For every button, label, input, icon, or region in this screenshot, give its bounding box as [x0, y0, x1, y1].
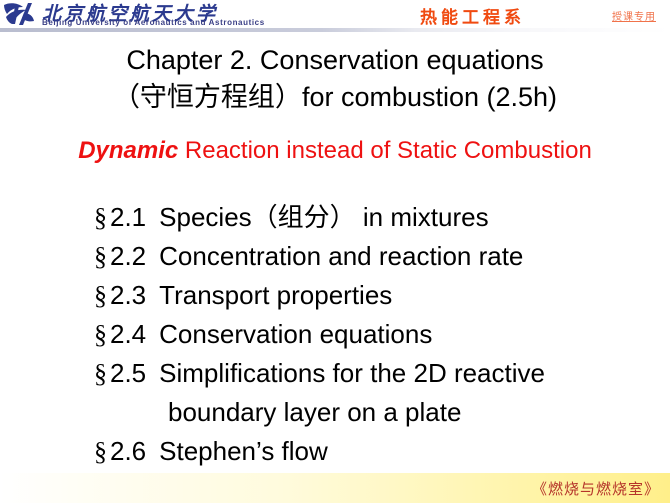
agenda-item-number: 2.5	[110, 358, 159, 388]
agenda-item-number: 2.2	[110, 241, 159, 271]
header-divider	[0, 28, 670, 32]
slide-title-line-1: Chapter 2. Conservation equations	[0, 42, 670, 79]
agenda-item[interactable]: §2.1Species（组分） in mixtures	[0, 198, 670, 237]
section-symbol-icon: §	[94, 320, 110, 349]
agenda-item-label: Stephen’s flow	[159, 436, 328, 466]
slide-title-line-2-rest: for combustion (2.5h)	[302, 82, 557, 112]
slide-subtitle: Dynamic Reaction instead of Static Combu…	[0, 137, 670, 165]
section-symbol-icon: §	[94, 242, 110, 271]
slide-title: Chapter 2. Conservation equations （守恒方程组…	[0, 42, 670, 116]
slide-subtitle-emphasis: Dynamic	[78, 137, 178, 164]
agenda-item[interactable]: §2.2Concentration and reaction rate	[0, 237, 670, 276]
department-note: 授课专用	[612, 8, 656, 23]
section-symbol-icon: §	[94, 437, 110, 466]
department-title: 热能工程系	[420, 3, 525, 28]
slide-title-line-2: （守恒方程组）for combustion (2.5h)	[0, 79, 670, 116]
agenda-item-label-cjk: （组分）	[252, 203, 356, 232]
agenda-item-label-suffix: in mixtures	[356, 202, 489, 232]
agenda-item-label: Transport properties	[159, 280, 392, 310]
course-title: 《燃烧与燃烧室》	[532, 478, 660, 499]
buaa-emblem-icon	[2, 1, 36, 27]
agenda-item[interactable]: boundary layer on a plate	[0, 393, 670, 432]
agenda-item[interactable]: §2.6Stephen’s flow	[0, 432, 670, 471]
agenda-list: §2.1Species（组分） in mixtures§2.2Concentra…	[0, 198, 670, 471]
section-symbol-icon: §	[94, 359, 110, 388]
agenda-item-label: Conservation equations	[159, 319, 432, 349]
slide-title-cjk: （守恒方程组）	[113, 82, 302, 112]
agenda-item-label: Concentration and reaction rate	[159, 241, 523, 271]
agenda-item[interactable]: §2.5Simplifications for the 2D reactive	[0, 354, 670, 393]
agenda-item-label: Simplifications for the 2D reactive	[159, 358, 545, 388]
slide-footer: 《燃烧与燃烧室》	[0, 473, 670, 503]
agenda-item-label: Species	[159, 202, 252, 232]
slide-subtitle-rest: Reaction instead of Static Combustion	[178, 137, 592, 164]
agenda-item-number: 2.4	[110, 319, 159, 349]
agenda-item-number: 2.6	[110, 436, 159, 466]
section-symbol-icon: §	[94, 203, 110, 232]
agenda-item-number: 2.3	[110, 280, 159, 310]
agenda-item-number: 2.1	[110, 202, 159, 232]
agenda-item-label: boundary layer on a plate	[168, 397, 461, 427]
university-name-en: Beijing University of Aeronautics and As…	[42, 18, 265, 27]
slide-header: 北京航空航天大学 Beijing University of Aeronauti…	[0, 0, 670, 32]
section-symbol-icon: §	[94, 281, 110, 310]
agenda-item[interactable]: §2.4Conservation equations	[0, 315, 670, 354]
agenda-item[interactable]: §2.3Transport properties	[0, 276, 670, 315]
